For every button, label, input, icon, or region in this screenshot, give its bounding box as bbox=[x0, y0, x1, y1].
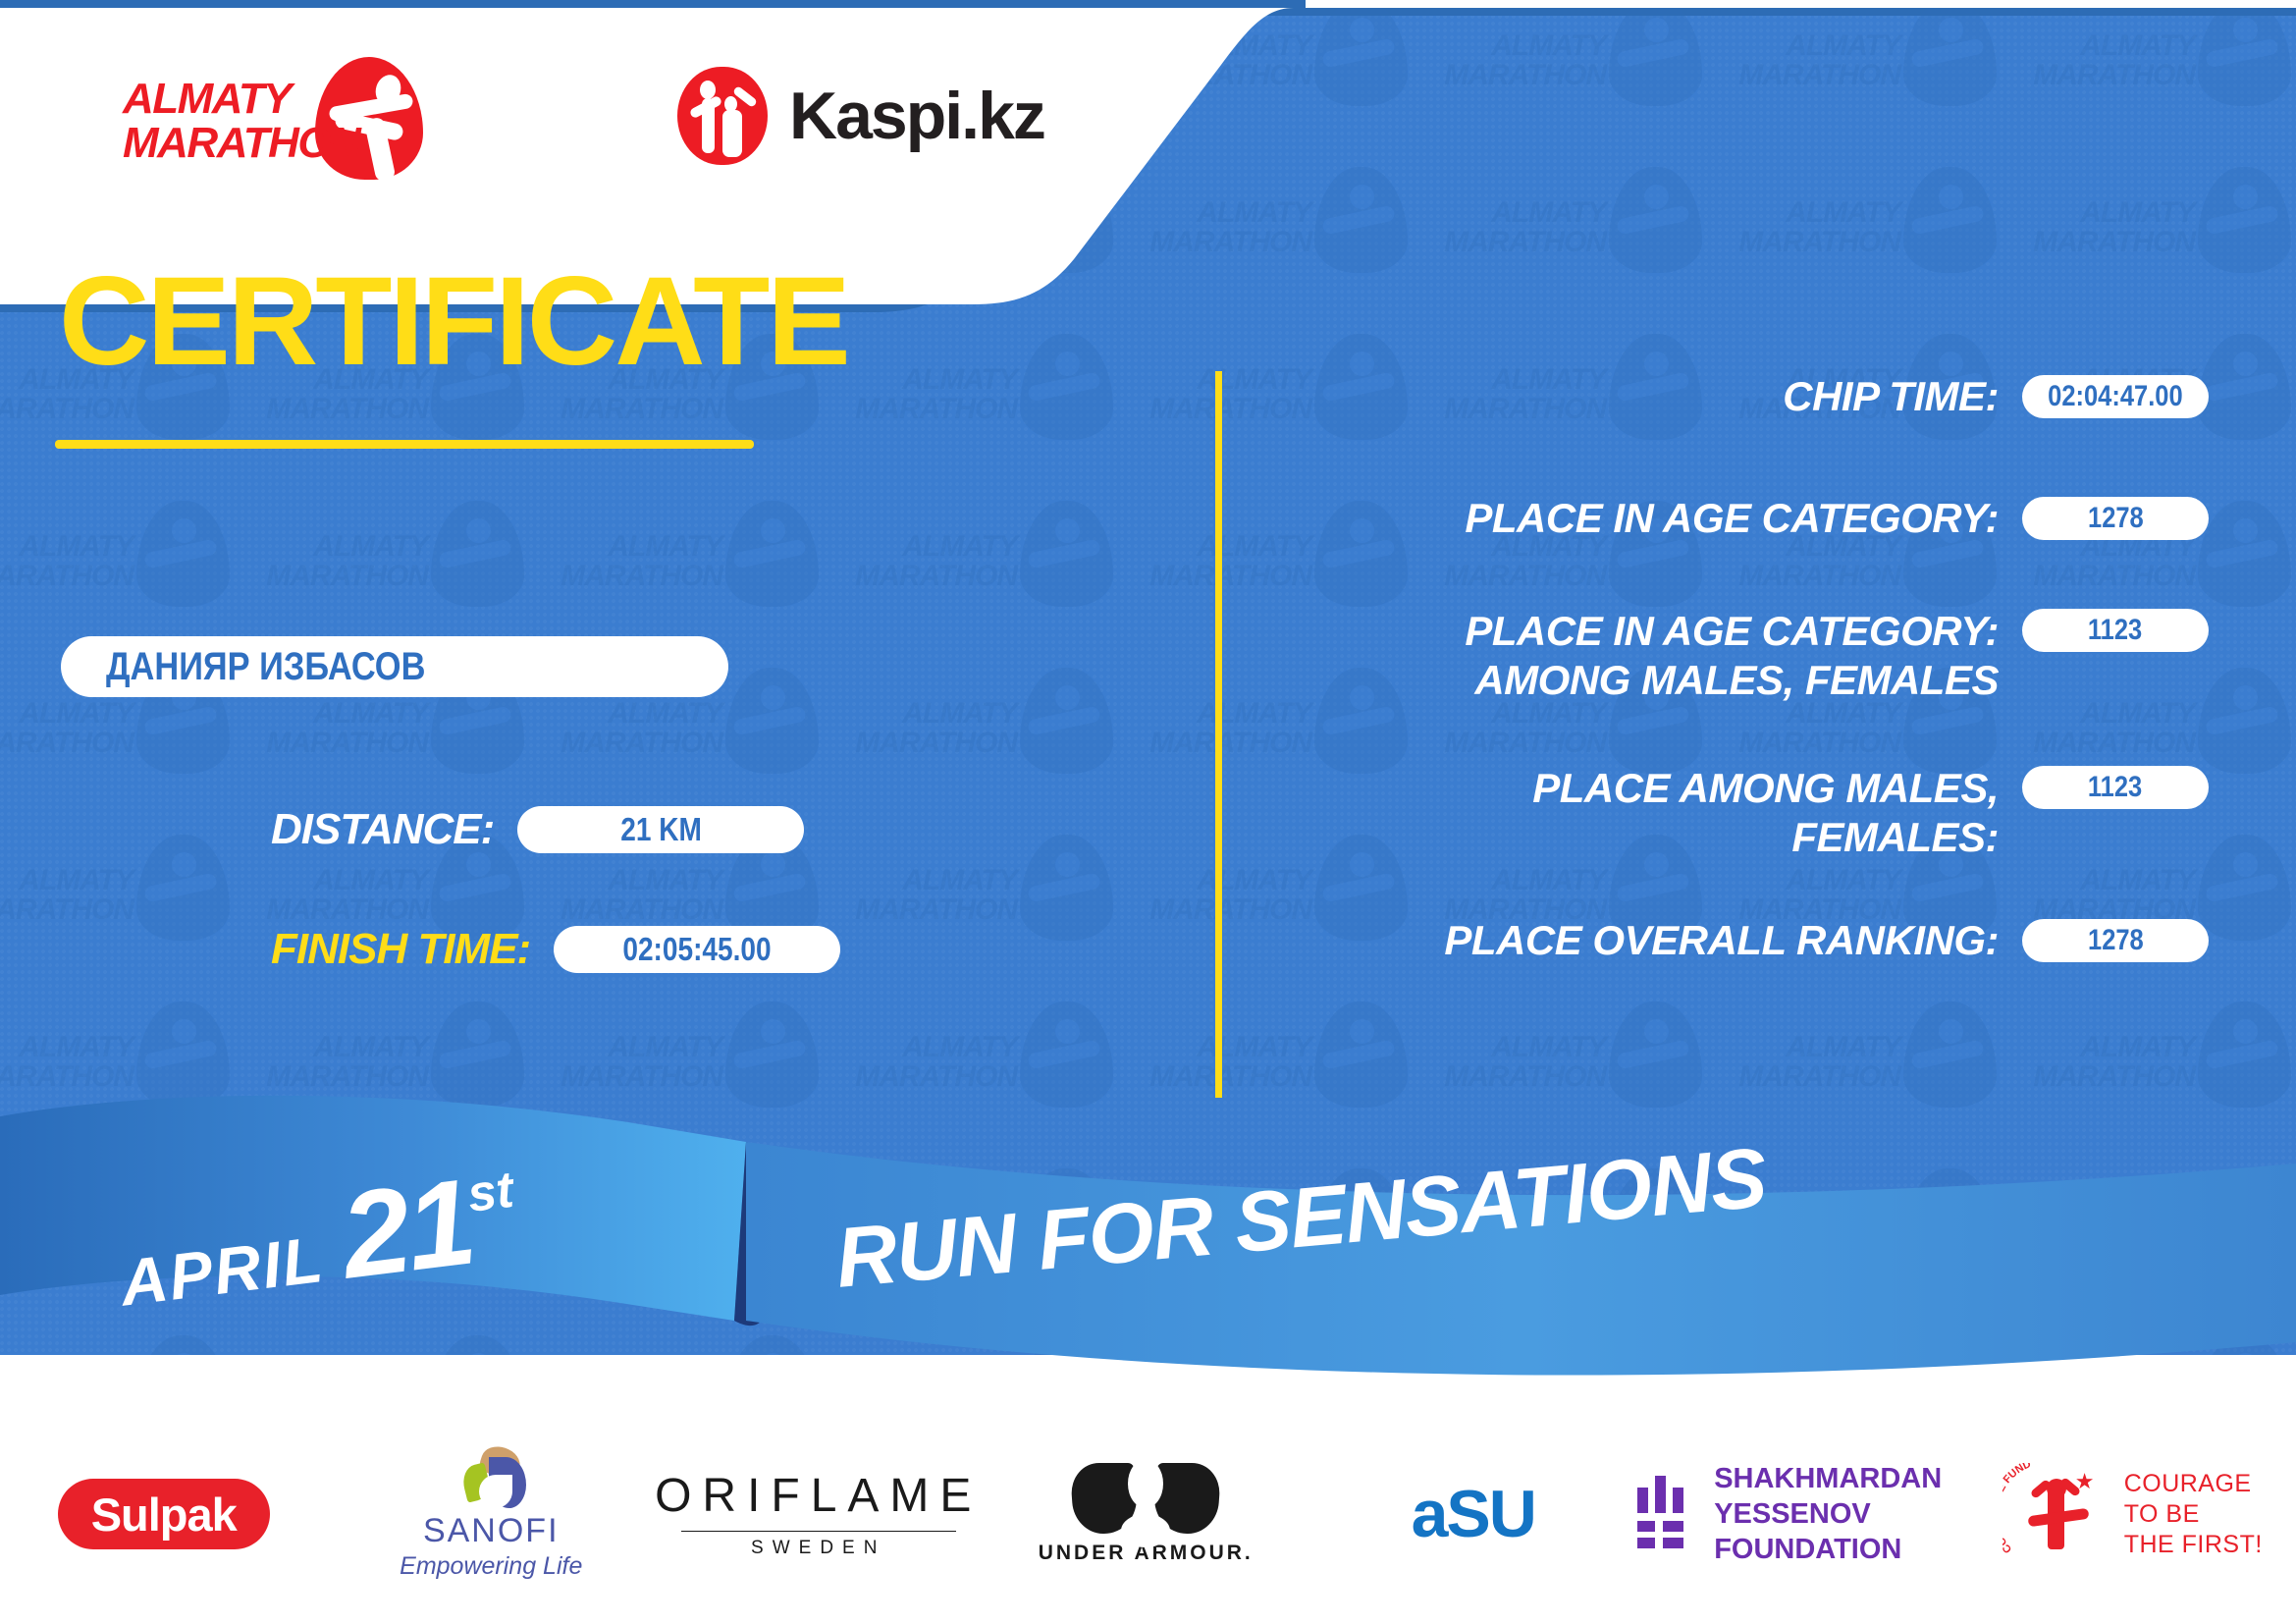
distance-value: 21 KM bbox=[620, 811, 702, 848]
page-title: CERTIFICATE bbox=[59, 259, 848, 385]
result-row: PLACE OVERALL RANKING:1278 bbox=[1276, 917, 2209, 964]
certificate-page: ALMATYMARATHONALMATYMARATHONALMATYMARATH… bbox=[0, 0, 2296, 1624]
result-value-pill: 1123 bbox=[2022, 609, 2209, 652]
watermark-text: ALMATYMARATHON bbox=[825, 699, 1017, 758]
result-row: PLACE AMONG MALES,FEMALES:1123 bbox=[1276, 764, 2209, 862]
watermark-runner-icon bbox=[1020, 835, 1113, 941]
watermark-tile: ALMATYMARATHON bbox=[530, 499, 825, 656]
watermark-runner-icon bbox=[431, 501, 524, 607]
sulpak-wordmark: Sulpak bbox=[91, 1488, 237, 1542]
watermark-text: ALMATYMARATHON bbox=[530, 532, 722, 591]
result-value: 02:04:47.00 bbox=[2048, 380, 2183, 413]
result-label: PLACE OVERALL RANKING: bbox=[1276, 917, 2022, 964]
watermark-text: ALMATYMARATHON bbox=[1414, 1033, 1606, 1092]
sanofi-tagline: Empowering Life bbox=[400, 1552, 582, 1581]
event-day-suffix: st bbox=[464, 1161, 516, 1224]
watermark-text: ALMATYMARATHON bbox=[825, 1033, 1017, 1092]
almaty-marathon-logo: ALMATY MARATHON bbox=[123, 51, 447, 179]
watermark-runner-icon bbox=[2198, 668, 2291, 774]
sponsor-sanofi: SANOFI Empowering Life bbox=[328, 1447, 656, 1581]
courage-line2: TO BE bbox=[2124, 1499, 2263, 1530]
watermark-tile: ALMATYMARATHON bbox=[236, 499, 530, 656]
watermark-runner-icon bbox=[2198, 167, 2291, 273]
sanofi-wordmark: SANOFI bbox=[400, 1512, 582, 1550]
event-day: 21 bbox=[334, 1152, 479, 1306]
asu-wordmark: aSU bbox=[1412, 1476, 1535, 1552]
watermark-runner-icon bbox=[1609, 1001, 1702, 1108]
watermark-text: ALMATYMARATHON bbox=[0, 532, 133, 591]
watermark-text: ALMATYMARATHON bbox=[236, 699, 428, 758]
distance-value-pill: 21 KM bbox=[517, 806, 804, 853]
watermark-text: ALMATYMARATHON bbox=[825, 866, 1017, 925]
watermark-tile: ALMATYMARATHON bbox=[1414, 8, 1708, 155]
watermark-runner-icon bbox=[1020, 334, 1113, 440]
result-value: 1278 bbox=[2088, 502, 2144, 535]
watermark-runner-icon bbox=[431, 1001, 524, 1108]
result-row: CHIP TIME:02:04:47.00 bbox=[1276, 373, 2209, 420]
watermark-tile: ALMATYMARATHON bbox=[825, 332, 1119, 489]
watermark-runner-icon bbox=[2198, 1001, 2291, 1108]
watermark-runner-icon bbox=[1903, 167, 1997, 273]
watermark-tile: ALMATYMARATHON bbox=[825, 499, 1119, 656]
courage-line1: COURAGE bbox=[2124, 1469, 2263, 1499]
kaspi-wordmark: Kaspi.kz bbox=[789, 78, 1044, 154]
watermark-runner-icon bbox=[725, 501, 819, 607]
watermark-runner-icon bbox=[2198, 334, 2291, 440]
watermark-text: ALMATYMARATHON bbox=[530, 866, 722, 925]
watermark-text: ALMATYMARATHON bbox=[2002, 1033, 2195, 1092]
event-ribbon: APRIL 21 st RUN FOR SENSATIONS bbox=[0, 1095, 2296, 1419]
result-row: PLACE IN AGE CATEGORY:1278 bbox=[1276, 495, 2209, 542]
watermark-runner-icon bbox=[136, 501, 230, 607]
under-armour-icon bbox=[1072, 1463, 1219, 1534]
distance-label: DISTANCE: bbox=[271, 805, 494, 854]
watermark-text: ALMATYMARATHON bbox=[530, 1033, 722, 1092]
svg-text:CORPORATE FUND: CORPORATE FUND bbox=[2002, 1463, 2033, 1555]
courage-fund-icon: CORPORATE FUND ★ bbox=[2002, 1463, 2109, 1565]
watermark-runner-icon bbox=[2198, 8, 2291, 106]
watermark-tile: ALMATYMARATHON bbox=[2002, 8, 2296, 155]
kaspi-people-icon bbox=[677, 67, 768, 165]
oriflame-tagline: SWEDEN bbox=[655, 1538, 982, 1559]
sponsor-courage-fund: CORPORATE FUND ★ COURAGE TO BE THE FIRST… bbox=[1969, 1463, 2296, 1565]
yessenov-wordmark-line1: SHAKHMARDAN YESSENOV bbox=[1714, 1461, 1968, 1532]
watermark-runner-icon bbox=[1020, 1001, 1113, 1108]
watermark-text: ALMATYMARATHON bbox=[0, 1033, 133, 1092]
result-value-pill: 1278 bbox=[2022, 497, 2209, 540]
sponsor-bar: Sulpak SANOFI Empowering Life ORIFLAME S… bbox=[0, 1404, 2296, 1624]
result-value: 1123 bbox=[2088, 771, 2142, 804]
watermark-text: ALMATYMARATHON bbox=[1708, 1033, 1900, 1092]
result-label: PLACE IN AGE CATEGORY: bbox=[1276, 495, 2022, 542]
sponsor-sulpak: Sulpak bbox=[0, 1479, 328, 1549]
watermark-text: ALMATYMARATHON bbox=[825, 365, 1017, 424]
watermark-runner-icon bbox=[1903, 8, 1997, 106]
watermark-runner-icon bbox=[1609, 8, 1702, 106]
result-label: PLACE IN AGE CATEGORY:AMONG MALES, FEMAL… bbox=[1276, 607, 2022, 705]
watermark-text: ALMATYMARATHON bbox=[236, 866, 428, 925]
result-label: CHIP TIME: bbox=[1276, 373, 2022, 420]
oriflame-wordmark: ORIFLAME bbox=[655, 1469, 982, 1523]
kaspi-logo: Kaspi.kz bbox=[677, 67, 1044, 165]
result-value-pill: 1123 bbox=[2022, 766, 2209, 809]
sanofi-icon bbox=[450, 1447, 532, 1508]
watermark-text: ALMATYMARATHON bbox=[825, 532, 1017, 591]
watermark-text: ALMATYMARATHON bbox=[0, 699, 133, 758]
finish-time-label: FINISH TIME: bbox=[271, 925, 530, 974]
watermark-text: ALMATYMARATHON bbox=[236, 532, 428, 591]
watermark-runner-icon bbox=[725, 1001, 819, 1108]
watermark-runner-icon bbox=[136, 1001, 230, 1108]
result-row: PLACE IN AGE CATEGORY:AMONG MALES, FEMAL… bbox=[1276, 607, 2209, 705]
watermark-runner-icon bbox=[2198, 501, 2291, 607]
watermark-text: ALMATYMARATHON bbox=[1708, 31, 1900, 90]
watermark-tile: ALMATYMARATHON bbox=[0, 833, 236, 990]
watermark-runner-icon bbox=[1020, 501, 1113, 607]
watermark-runner-icon bbox=[725, 668, 819, 774]
watermark-text: ALMATYMARATHON bbox=[2002, 198, 2195, 257]
watermark-tile: ALMATYMARATHON bbox=[1414, 165, 1708, 322]
watermark-text: ALMATYMARATHON bbox=[0, 866, 133, 925]
finish-time-value-pill: 02:05:45.00 bbox=[554, 926, 840, 973]
watermark-tile: ALMATYMARATHON bbox=[1708, 8, 2002, 155]
watermark-tile: ALMATYMARATHON bbox=[2002, 165, 2296, 322]
watermark-text: ALMATYMARATHON bbox=[1708, 198, 1900, 257]
watermark-text: ALMATYMARATHON bbox=[236, 1033, 428, 1092]
yessenov-icon bbox=[1637, 1476, 1687, 1552]
oriflame-rule bbox=[681, 1531, 956, 1533]
sponsor-asu: aSU bbox=[1309, 1476, 1637, 1552]
watermark-tile: ALMATYMARATHON bbox=[825, 833, 1119, 990]
watermark-runner-icon bbox=[1314, 1001, 1408, 1108]
watermark-tile: ALMATYMARATHON bbox=[1708, 165, 2002, 322]
result-label: PLACE AMONG MALES,FEMALES: bbox=[1276, 764, 2022, 862]
almaty-marathon-line2: MARATHON bbox=[123, 121, 315, 165]
finish-time-row: FINISH TIME: 02:05:45.00 bbox=[271, 925, 840, 974]
result-value: 1123 bbox=[2088, 614, 2142, 647]
result-value-pill: 02:04:47.00 bbox=[2022, 375, 2209, 418]
distance-row: DISTANCE: 21 KM bbox=[271, 805, 804, 854]
watermark-runner-icon bbox=[1020, 668, 1113, 774]
watermark-runner-icon bbox=[2198, 835, 2291, 941]
athlete-name-value: ДАНИЯР ИЗБАСОВ bbox=[106, 645, 425, 689]
watermark-text: ALMATYMARATHON bbox=[1414, 31, 1606, 90]
sponsor-under-armour: UNDER ARMOUR. bbox=[983, 1463, 1310, 1565]
yessenov-wordmark-line2: FOUNDATION bbox=[1714, 1532, 1968, 1567]
watermark-runner-icon bbox=[1609, 167, 1702, 273]
athlete-name-field: ДАНИЯР ИЗБАСОВ bbox=[61, 636, 728, 697]
watermark-text: ALMATYMARATHON bbox=[1414, 198, 1606, 257]
result-value: 1278 bbox=[2088, 924, 2144, 957]
finish-time-value: 02:05:45.00 bbox=[623, 931, 772, 968]
sponsor-oriflame: ORIFLAME SWEDEN bbox=[655, 1469, 983, 1560]
results-list: CHIP TIME:02:04:47.00PLACE IN AGE CATEGO… bbox=[1276, 373, 2209, 964]
almaty-marathon-line1: ALMATY bbox=[123, 77, 315, 121]
watermark-text: ALMATYMARATHON bbox=[530, 699, 722, 758]
column-divider bbox=[1215, 371, 1222, 1098]
result-value-pill: 1278 bbox=[2022, 919, 2209, 962]
watermark-tile: ALMATYMARATHON bbox=[825, 666, 1119, 823]
watermark-tile: ALMATYMARATHON bbox=[0, 499, 236, 656]
header-logos: ALMATY MARATHON Kaspi.kz bbox=[0, 0, 1178, 245]
title-underline bbox=[55, 440, 754, 449]
courage-line3: THE FIRST! bbox=[2124, 1530, 2263, 1560]
watermark-runner-icon bbox=[1903, 1001, 1997, 1108]
sponsor-yessenov-foundation: SHAKHMARDAN YESSENOV FOUNDATION bbox=[1637, 1461, 1969, 1567]
watermark-text: ALMATYMARATHON bbox=[2002, 31, 2195, 90]
watermark-runner-icon bbox=[136, 835, 230, 941]
